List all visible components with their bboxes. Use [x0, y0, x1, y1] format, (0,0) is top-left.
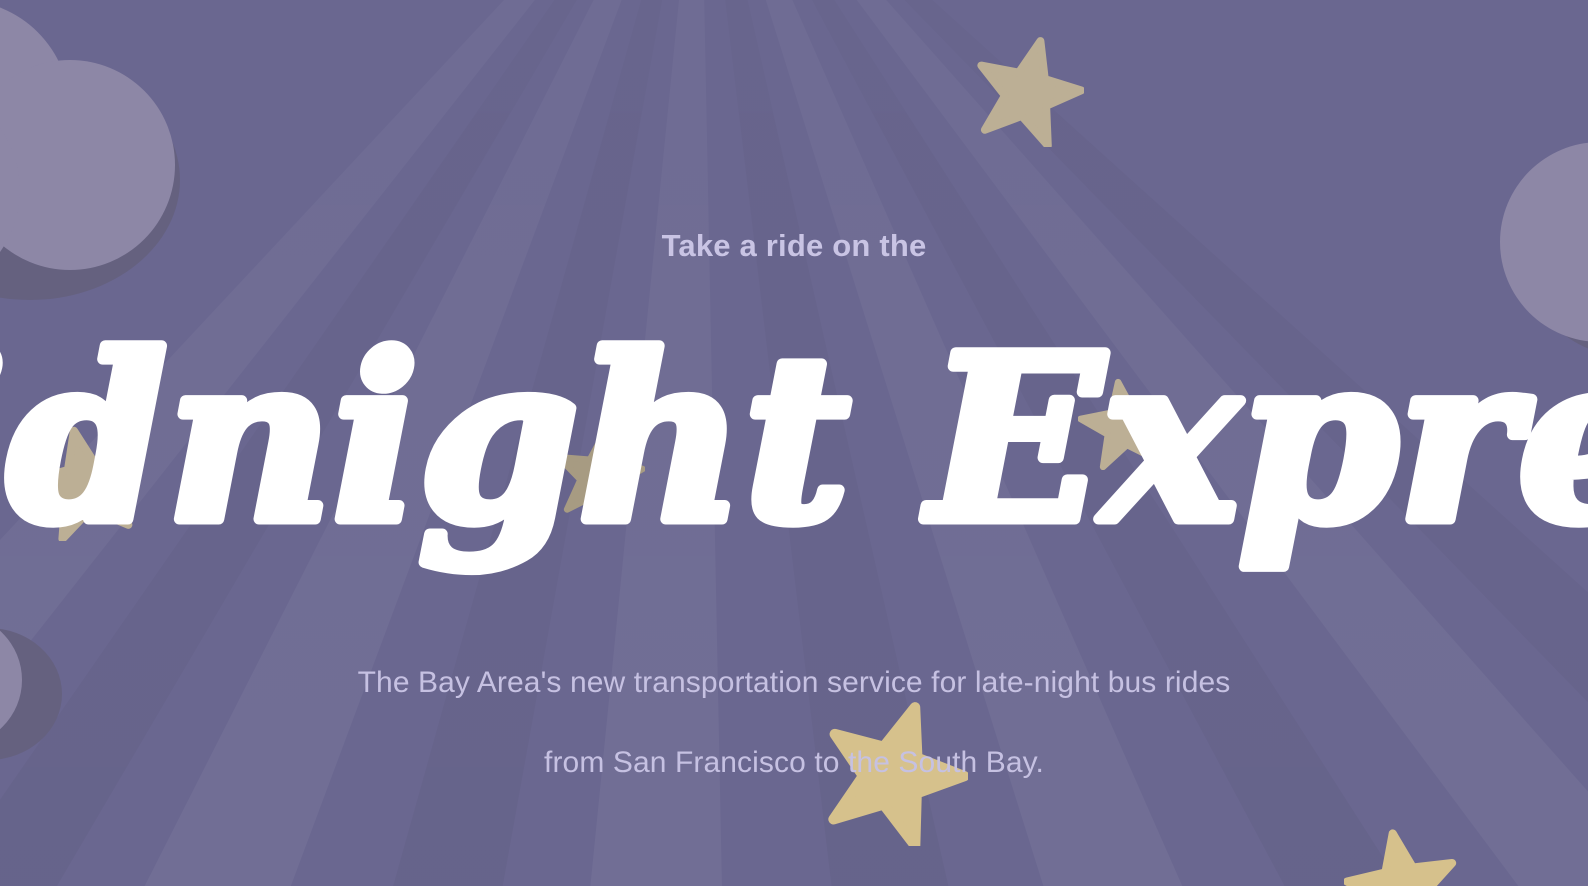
hero-subtitle: The Bay Area's new transportation servic… — [84, 643, 1504, 803]
hero-subtitle-line-2: from San Francisco to the South Bay. — [84, 723, 1504, 803]
hero-subtitle-line-1: The Bay Area's new transportation servic… — [84, 643, 1504, 723]
hero-title-text: Midnight Express — [0, 305, 1588, 573]
hero-title-lockup: Midnight Express — [64, 309, 1524, 609]
hero-title: Midnight Express — [64, 309, 1524, 609]
hero-banner: Take a ride on the Midnight Express The … — [0, 0, 1588, 886]
hero-eyebrow: Take a ride on the — [662, 230, 927, 261]
hero-content: Take a ride on the Midnight Express The … — [0, 0, 1588, 886]
